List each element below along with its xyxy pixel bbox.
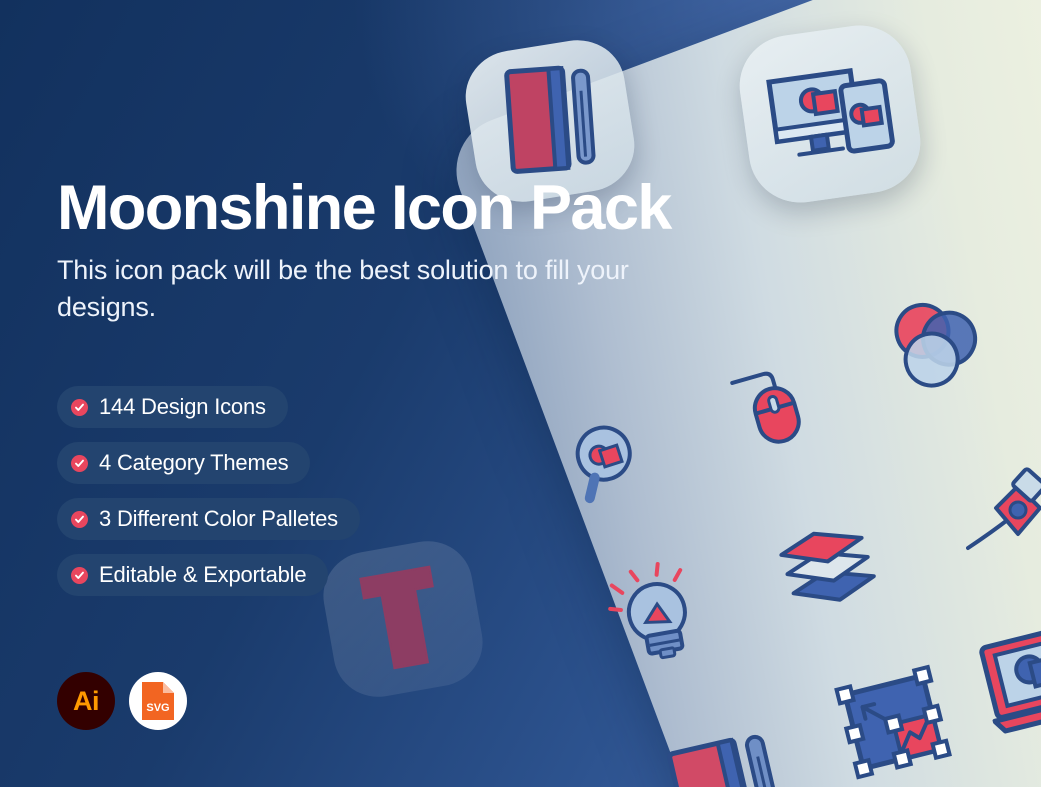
feature-row: 3 Different Color Palletes <box>57 498 677 554</box>
feature-row: 144 Design Icons <box>57 386 677 442</box>
feature-label: 3 Different Color Palletes <box>99 506 338 532</box>
check-circle-icon <box>71 511 88 528</box>
feature-label: Editable & Exportable <box>99 562 306 588</box>
page-subtitle: This icon pack will be the best solution… <box>57 252 657 326</box>
feature-pill-color-palletes[interactable]: 3 Different Color Palletes <box>57 498 360 540</box>
feature-pill-design-icons[interactable]: 144 Design Icons <box>57 386 288 428</box>
color-wheel-icon <box>888 298 984 395</box>
format-badges: Ai SVG <box>57 672 187 730</box>
check-circle-icon <box>71 399 88 416</box>
hero-content: Moonshine Icon Pack This icon pack will … <box>57 0 697 787</box>
layers-stack-icon <box>778 527 884 622</box>
svg-badge-label: SVG <box>146 702 169 714</box>
poster-canvas: Moonshine Icon Pack This icon pack will … <box>0 0 1041 787</box>
computer-mouse-icon <box>728 360 808 457</box>
adobe-illustrator-badge[interactable]: Ai <box>57 672 115 730</box>
feature-list: 144 Design Icons 4 Category Themes 3 Dif… <box>57 386 677 610</box>
feature-label: 144 Design Icons <box>99 394 266 420</box>
presentation-screen-icon <box>985 628 1041 743</box>
feature-row: 4 Category Themes <box>57 442 677 498</box>
image-transform-icon <box>838 668 968 787</box>
pen-nib-icon <box>966 462 1041 559</box>
check-circle-icon <box>71 455 88 472</box>
feature-pill-editable-exportable[interactable]: Editable & Exportable <box>57 554 328 596</box>
adobe-illustrator-label: Ai <box>73 688 99 715</box>
feature-pill-category-themes[interactable]: 4 Category Themes <box>57 442 310 484</box>
feature-label: 4 Category Themes <box>99 450 288 476</box>
page-title: Moonshine Icon Pack <box>57 170 671 246</box>
check-circle-icon <box>71 567 88 584</box>
feature-row: Editable & Exportable <box>57 554 677 610</box>
svg-file-icon: SVG <box>140 680 176 722</box>
svg-file-badge[interactable]: SVG <box>129 672 187 730</box>
responsive-design-card <box>733 19 927 209</box>
